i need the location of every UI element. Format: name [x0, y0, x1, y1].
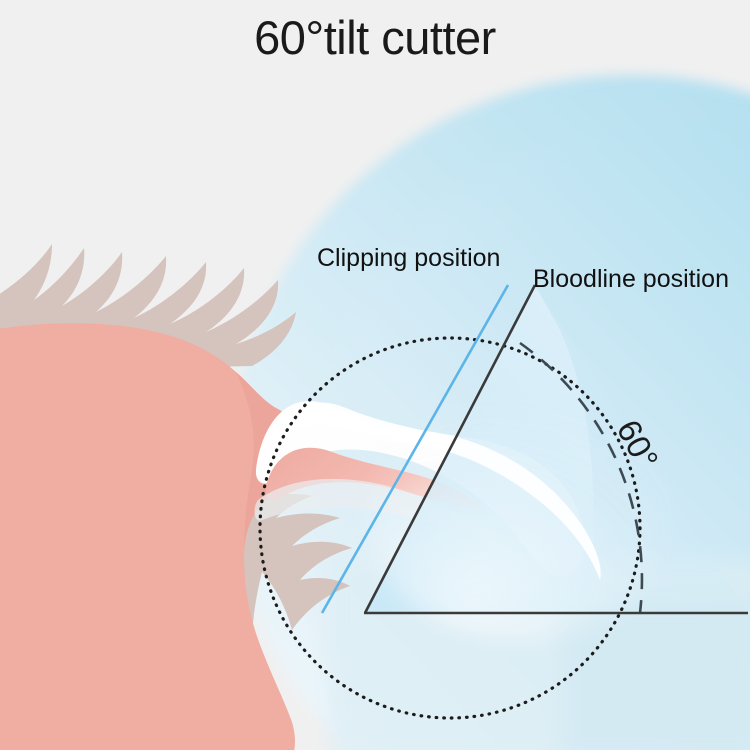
bloodline-position-label: Bloodline position — [533, 265, 729, 293]
diagram-svg — [0, 0, 750, 750]
clipping-position-label: Clipping position — [317, 244, 500, 272]
page-title: 60°tilt cutter — [0, 6, 750, 70]
illustration-canvas: 60°tilt cutter Clipping position Bloodli… — [0, 0, 750, 750]
